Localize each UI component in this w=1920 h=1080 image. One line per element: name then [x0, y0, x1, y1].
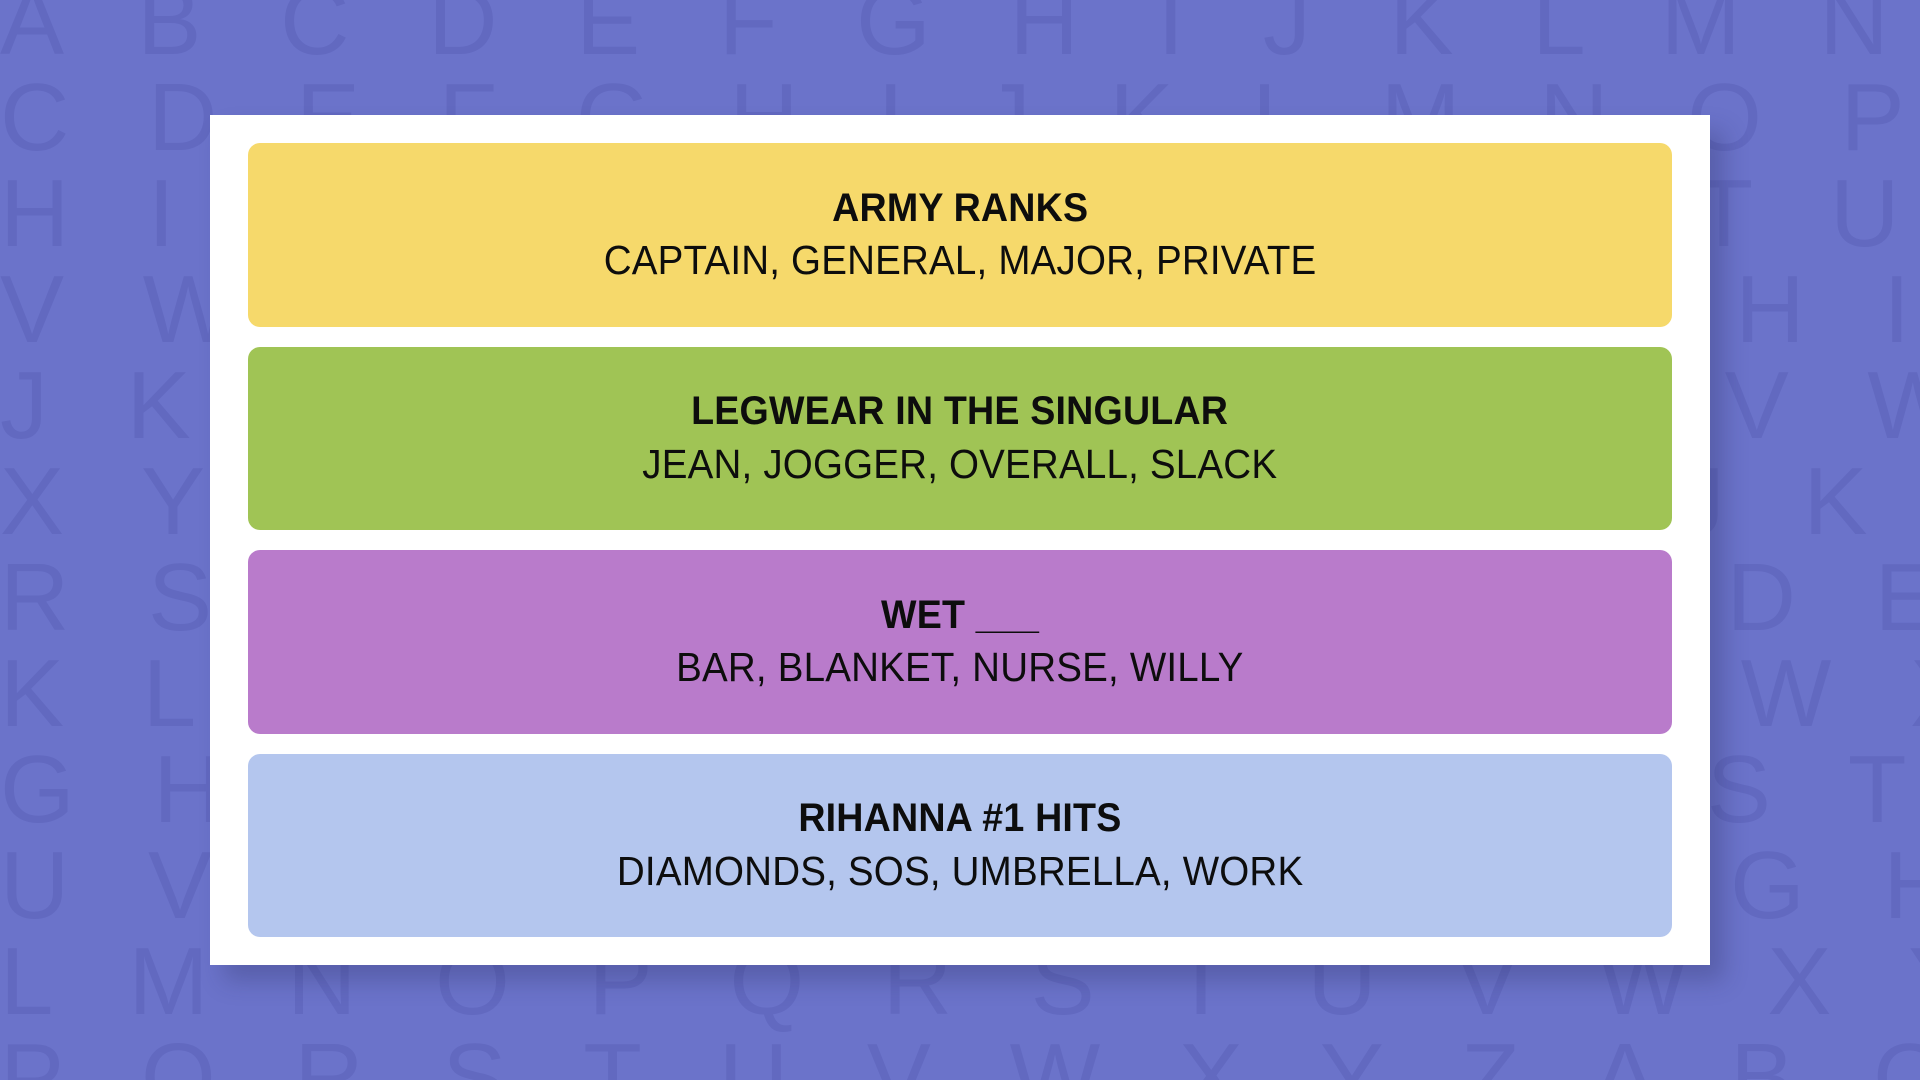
connections-answer-card: ARMY RANKS CAPTAIN, GENERAL, MAJOR, PRIV…	[210, 115, 1710, 965]
category-row: RIHANNA #1 HITS DIAMONDS, SOS, UMBRELLA,…	[248, 754, 1672, 938]
category-words: DIAMONDS, SOS, UMBRELLA, WORK	[617, 847, 1303, 895]
category-words: JEAN, JOGGER, OVERALL, SLACK	[643, 440, 1278, 488]
category-title: ARMY RANKS	[832, 185, 1088, 232]
category-words: BAR, BLANKET, NURSE, WILLY	[676, 643, 1243, 691]
category-title: RIHANNA #1 HITS	[798, 795, 1121, 842]
category-title: WET ___	[881, 592, 1039, 639]
category-row: WET ___ BAR, BLANKET, NURSE, WILLY	[248, 550, 1672, 734]
background-letter-row: A B C D E F G H I J K L M N O P Q R S T …	[0, 0, 1920, 70]
category-title: LEGWEAR IN THE SINGULAR	[691, 388, 1228, 435]
category-row: LEGWEAR IN THE SINGULAR JEAN, JOGGER, OV…	[248, 347, 1672, 531]
category-words: CAPTAIN, GENERAL, MAJOR, PRIVATE	[604, 236, 1317, 284]
background-letter-row: P Q R S T U V W X Y Z A B C D E F G H I …	[0, 1030, 1920, 1080]
category-row: ARMY RANKS CAPTAIN, GENERAL, MAJOR, PRIV…	[248, 143, 1672, 327]
